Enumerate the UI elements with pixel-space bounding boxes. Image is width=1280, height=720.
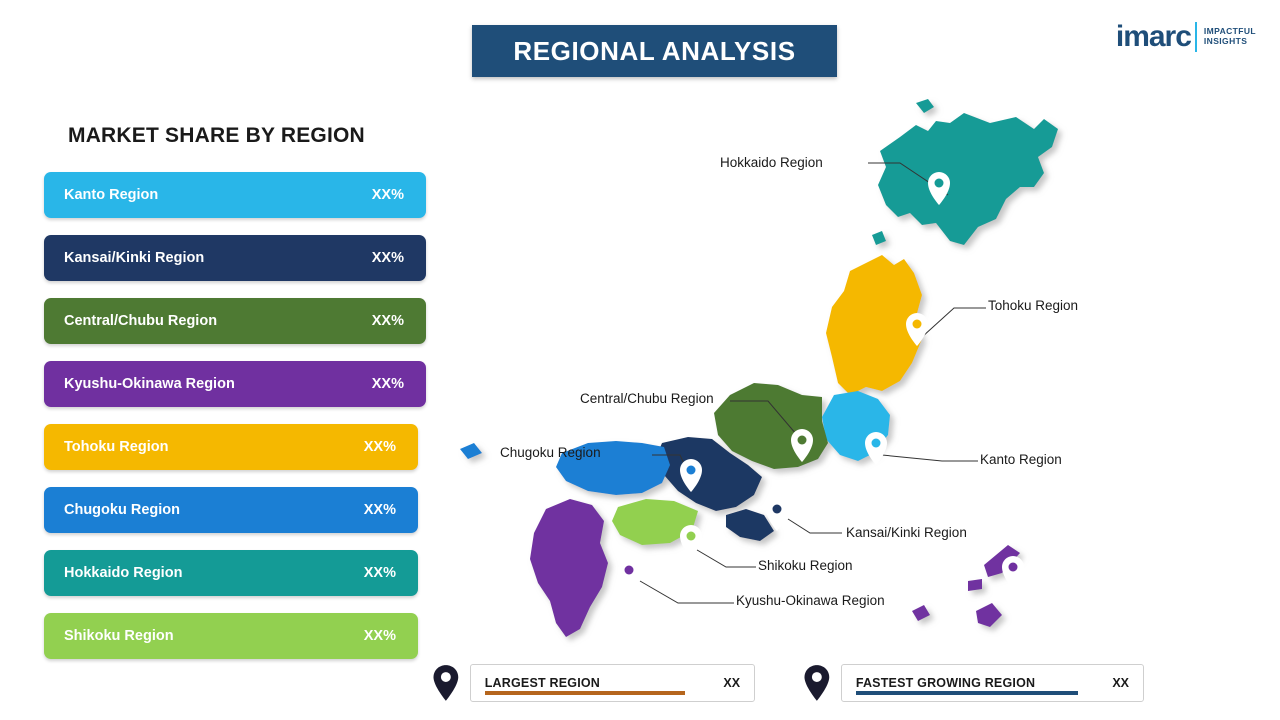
largest-region-bar bbox=[485, 691, 685, 695]
region-hokkaido[interactable] bbox=[878, 113, 1058, 245]
legend-value: XX% bbox=[364, 439, 396, 455]
largest-region-value: XX bbox=[723, 676, 740, 690]
legend-value: XX% bbox=[364, 628, 396, 644]
region-hokkaido-islet-1 bbox=[916, 99, 934, 113]
legend-label: Central/Chubu Region bbox=[64, 313, 217, 329]
page-title-banner: REGIONAL ANALYSIS bbox=[472, 25, 837, 77]
map-label-kyushu-okinawa: Kyushu-Okinawa Region bbox=[736, 593, 885, 608]
fastest-growing-value: XX bbox=[1112, 676, 1129, 690]
region-okinawa-2 bbox=[968, 579, 982, 591]
legend-item-kyushu-okinawa[interactable]: Kyushu-Okinawa Region XX% bbox=[44, 361, 426, 407]
legend-label: Kanto Region bbox=[64, 187, 158, 203]
logo-wordmark: imarc bbox=[1116, 20, 1191, 54]
region-okinawa-3 bbox=[976, 603, 1002, 627]
market-share-heading: MARKET SHARE BY REGION bbox=[68, 124, 365, 148]
page-title: REGIONAL ANALYSIS bbox=[513, 36, 795, 67]
legend-label: Shikoku Region bbox=[64, 628, 174, 644]
legend-item-chugoku[interactable]: Chugoku Region XX% bbox=[44, 487, 418, 533]
logo-tagline-line2: INSIGHTS bbox=[1204, 37, 1256, 47]
imarc-logo: imarc IMPACTFUL INSIGHTS bbox=[1116, 20, 1256, 54]
legend-item-shikoku[interactable]: Shikoku Region XX% bbox=[44, 613, 418, 659]
legend-value: XX% bbox=[372, 187, 404, 203]
legend-label: Tohoku Region bbox=[64, 439, 168, 455]
map-label-chugoku: Chugoku Region bbox=[500, 445, 601, 460]
region-legend-list: Kanto Region XX% Kansai/Kinki Region XX%… bbox=[44, 172, 430, 676]
fastest-growing-box: FASTEST GROWING REGION XX bbox=[841, 664, 1144, 702]
pin-kanto[interactable] bbox=[865, 432, 887, 465]
legend-label: Hokkaido Region bbox=[64, 565, 182, 581]
region-hokkaido-islet-2 bbox=[872, 231, 886, 245]
largest-region-box: LARGEST REGION XX bbox=[470, 664, 755, 702]
logo-divider bbox=[1195, 22, 1197, 52]
fastest-growing-pin-icon bbox=[803, 664, 831, 702]
legend-value: XX% bbox=[364, 565, 396, 581]
logo-tagline: IMPACTFUL INSIGHTS bbox=[1204, 27, 1256, 47]
region-chugoku-islet bbox=[460, 443, 482, 459]
largest-region-pin-icon bbox=[432, 664, 460, 702]
region-okinawa-4 bbox=[912, 605, 930, 621]
map-label-kanto: Kanto Region bbox=[980, 452, 1062, 467]
map-label-shikoku: Shikoku Region bbox=[758, 558, 853, 573]
legend-value: XX% bbox=[364, 502, 396, 518]
pin-okinawa[interactable] bbox=[1002, 556, 1024, 589]
largest-region-label: LARGEST REGION bbox=[485, 676, 600, 690]
legend-value: XX% bbox=[372, 250, 404, 266]
legend-item-kansai[interactable]: Kansai/Kinki Region XX% bbox=[44, 235, 426, 281]
map-label-kansai: Kansai/Kinki Region bbox=[846, 525, 967, 540]
legend-value: XX% bbox=[372, 313, 404, 329]
legend-label: Kyushu-Okinawa Region bbox=[64, 376, 235, 392]
map-label-chubu: Central/Chubu Region bbox=[580, 391, 714, 406]
region-kyushu[interactable] bbox=[530, 499, 608, 637]
legend-value: XX% bbox=[372, 376, 404, 392]
fastest-growing-bar bbox=[856, 691, 1078, 695]
pin-kyushu[interactable] bbox=[618, 559, 640, 592]
legend-item-hokkaido[interactable]: Hokkaido Region XX% bbox=[44, 550, 418, 596]
pin-shikoku[interactable] bbox=[680, 525, 702, 558]
legend-item-kanto[interactable]: Kanto Region XX% bbox=[44, 172, 426, 218]
legend-label: Kansai/Kinki Region bbox=[64, 250, 204, 266]
map-label-tohoku: Tohoku Region bbox=[988, 298, 1078, 313]
legend-item-tohoku[interactable]: Tohoku Region XX% bbox=[44, 424, 418, 470]
legend-label: Chugoku Region bbox=[64, 502, 180, 518]
legend-item-chubu[interactable]: Central/Chubu Region XX% bbox=[44, 298, 426, 344]
footer-summary: LARGEST REGION XX FASTEST GROWING REGION… bbox=[432, 662, 1144, 704]
japan-map: Hokkaido Region Tohoku Region Central/Ch… bbox=[430, 95, 1260, 655]
map-label-hokkaido: Hokkaido Region bbox=[720, 155, 823, 170]
fastest-growing-label: FASTEST GROWING REGION bbox=[856, 676, 1035, 690]
